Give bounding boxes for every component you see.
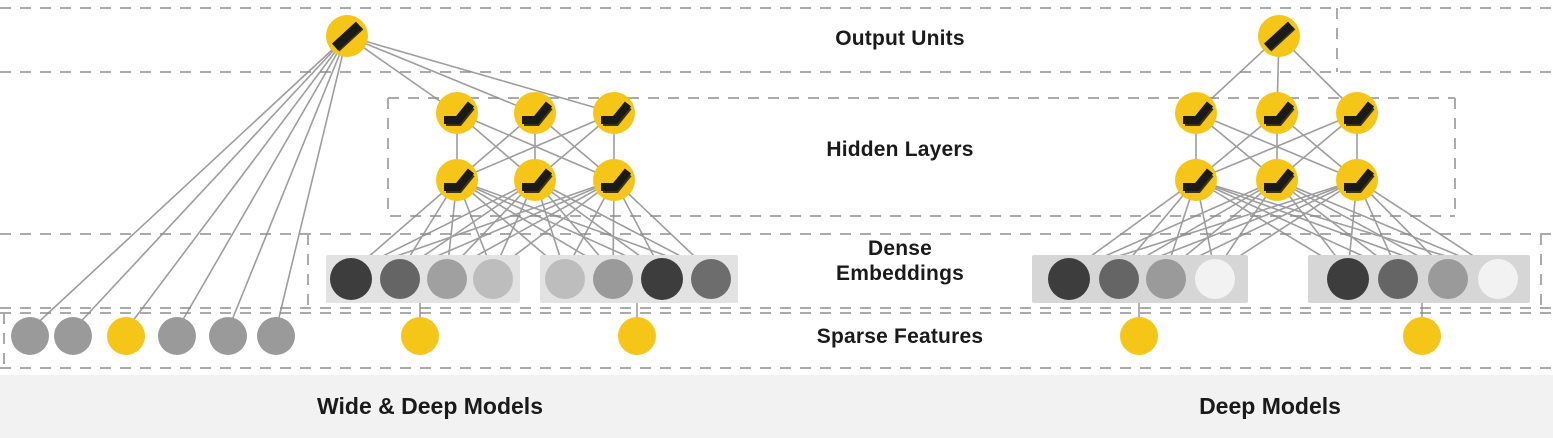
sparse-feature-node-active xyxy=(1403,317,1441,355)
sparse-feature-node xyxy=(158,317,196,355)
row-label-output-units: Output Units xyxy=(700,27,1100,52)
wide-and-deep-architecture-figure: Output Units Hidden Layers Dense Embeddi… xyxy=(0,0,1553,438)
caption-wide-and-deep-models: Wide & Deep Models xyxy=(120,393,740,420)
hidden-unit xyxy=(593,159,635,201)
embedding-circle xyxy=(1099,259,1139,299)
embedding-circle xyxy=(1327,258,1369,300)
embedding-circle xyxy=(593,259,633,299)
caption-deep-models: Deep Models xyxy=(1000,393,1540,420)
hidden-unit xyxy=(436,92,478,134)
embedding-circle xyxy=(1378,259,1418,299)
sparse-feature-node-active xyxy=(618,317,656,355)
embedding-circle xyxy=(1195,259,1235,299)
embedding-circle xyxy=(330,258,372,300)
hidden-unit xyxy=(1175,159,1217,201)
sparse-feature-node xyxy=(209,317,247,355)
hidden-unit xyxy=(1256,159,1298,201)
diagram-canvas xyxy=(0,0,1553,438)
hidden-unit xyxy=(436,159,478,201)
sparse-feature-node xyxy=(54,317,92,355)
output-unit-deep xyxy=(1258,15,1300,57)
row-label-dense-embeddings: Dense Embeddings xyxy=(700,237,1100,287)
wide-edge xyxy=(73,36,347,330)
wide-edge xyxy=(177,36,347,330)
sparse-feature-node xyxy=(257,317,295,355)
embedding-circle xyxy=(1478,259,1518,299)
sparse-feature-node-active xyxy=(401,317,439,355)
sparse-feature-node xyxy=(11,317,49,355)
embedding-circle xyxy=(473,259,513,299)
row-label-sparse-features: Sparse Features xyxy=(700,325,1100,350)
sparse-feature-node-active xyxy=(107,317,145,355)
embedding-circle xyxy=(545,259,585,299)
embedding-circle xyxy=(1146,259,1186,299)
hidden-unit xyxy=(593,92,635,134)
wide-edge xyxy=(126,36,347,330)
wide-edge xyxy=(30,36,347,330)
embedding-circle xyxy=(427,259,467,299)
row-label-dense-line1: Dense xyxy=(700,237,1100,262)
row-label-hidden-layers: Hidden Layers xyxy=(700,138,1100,163)
embedding-circle xyxy=(1428,259,1468,299)
hidden-unit xyxy=(1175,92,1217,134)
hidden-unit xyxy=(1336,159,1378,201)
hidden-unit xyxy=(1336,92,1378,134)
hidden-unit xyxy=(1256,92,1298,134)
hidden-unit xyxy=(514,159,556,201)
embedding-circle xyxy=(380,259,420,299)
hidden-unit xyxy=(514,92,556,134)
caption-band: Wide & Deep Models Deep Models xyxy=(0,375,1553,438)
output-unit-wide-deep xyxy=(326,15,368,57)
row-label-dense-line2: Embeddings xyxy=(700,262,1100,287)
sparse-feature-node-active xyxy=(1120,317,1158,355)
embedding-circle xyxy=(641,258,683,300)
